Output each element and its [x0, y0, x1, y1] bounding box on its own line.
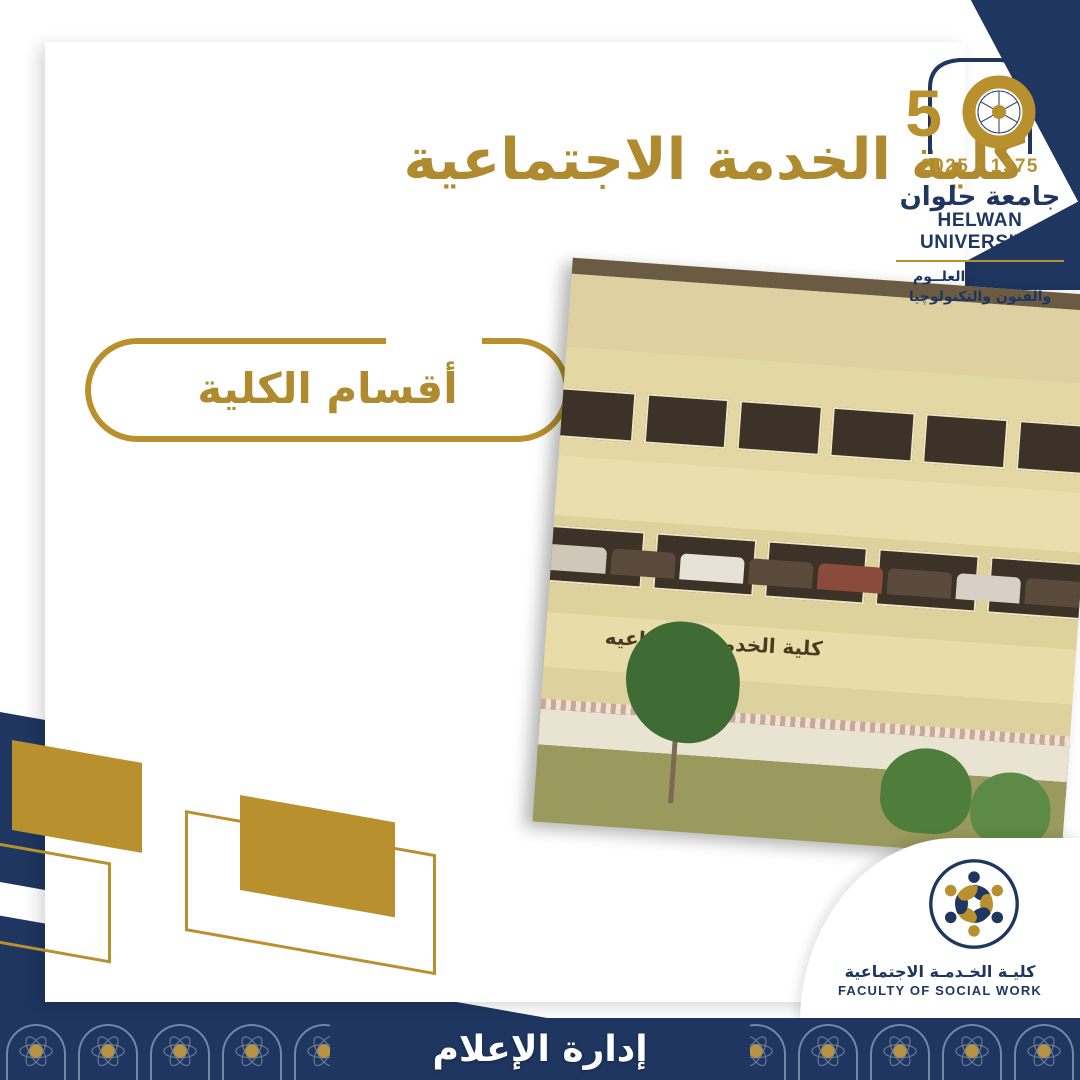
atom-icon: [17, 1032, 55, 1074]
photo-window: [1015, 420, 1080, 475]
tagline-line-2: والفنون والتكنولوچيا: [886, 287, 1074, 307]
faculty-logo-label: كليـة الخـدمـة الاجتماعية FACULTY OF SOC…: [800, 962, 1080, 998]
helwan-university-logo: 5 1975 - 2025 جامعة حلوان HELWAN UNIVERS…: [886, 50, 1074, 290]
anniversary-50-icon: 5: [886, 50, 1074, 162]
photo-window: [551, 387, 636, 442]
atom-icon: [1025, 1032, 1063, 1074]
photo-window: [923, 414, 1008, 469]
photo-content: كلية الخدمة الاجتماعيه: [532, 258, 1080, 859]
photo-person: [680, 554, 746, 585]
faculty-social-work-icon: [926, 856, 1022, 952]
photo-person: [955, 573, 1021, 604]
badge-label: أقسام الكلية: [85, 338, 570, 442]
atom-icon: [809, 1032, 847, 1074]
photo-person: [611, 549, 677, 580]
atom-arch: [1008, 1018, 1080, 1080]
photo-window: [644, 394, 729, 449]
atom-pattern-left: [0, 1018, 360, 1080]
university-name-en: HELWAN UNIVERSITY: [886, 210, 1074, 254]
atom-arch: [792, 1018, 864, 1080]
atom-arch: [936, 1018, 1008, 1080]
photo-window: [737, 400, 822, 455]
university-name-ar: جامعة حلوان: [886, 182, 1074, 212]
footer-bar: إدارة الإعلام: [0, 1018, 1080, 1080]
atom-icon: [953, 1032, 991, 1074]
sections-badge: أقسام الكلية: [85, 338, 570, 442]
atom-arch: [72, 1018, 144, 1080]
faculty-name-en: FACULTY OF SOCIAL WORK: [800, 983, 1080, 998]
photo-person: [748, 559, 814, 590]
atom-icon: [89, 1032, 127, 1074]
photo-person: [542, 544, 608, 575]
atom-icon: [881, 1032, 919, 1074]
photo-person: [1024, 578, 1080, 609]
atom-arch: [0, 1018, 72, 1080]
atom-arch: [216, 1018, 288, 1080]
photo-person: [886, 568, 952, 599]
faculty-name-ar: كليـة الخـدمـة الاجتماعية: [800, 962, 1080, 981]
atom-icon: [233, 1032, 271, 1074]
divider: [896, 260, 1064, 262]
photo-window: [830, 407, 915, 462]
atom-arch: [864, 1018, 936, 1080]
faculty-building-photo: كلية الخدمة الاجتماعيه: [532, 258, 1080, 859]
svg-text:5: 5: [905, 76, 942, 150]
photo-person: [817, 563, 883, 594]
tagline-line-1: ٥٠ عاماً من العلــوم: [886, 267, 1074, 287]
poster-canvas: كلية الخدمة الاجتماعية أقسام الكلية قسم …: [0, 0, 1080, 1080]
footer-label: إدارة الإعلام: [432, 1029, 647, 1070]
atom-icon: [161, 1032, 199, 1074]
atom-arch: [144, 1018, 216, 1080]
